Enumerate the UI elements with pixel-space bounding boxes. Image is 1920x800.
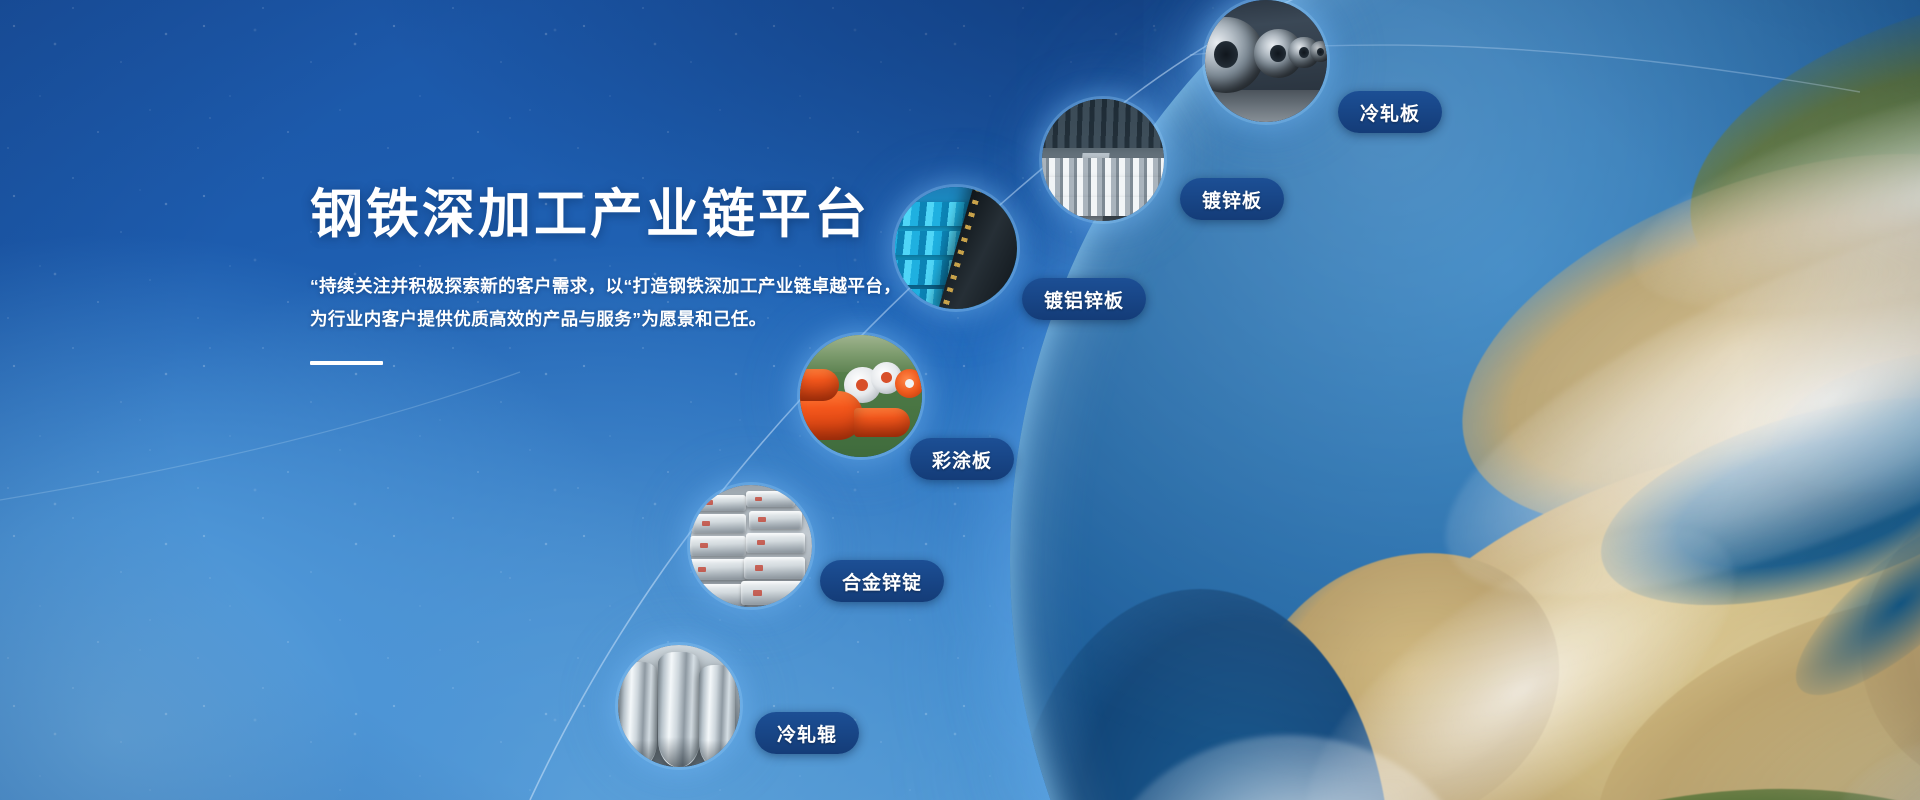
product-label-galvanized-plate[interactable]: 镀锌板 — [1180, 178, 1284, 220]
page-title: 钢铁深加工产业链平台 — [310, 185, 950, 244]
hero-subtitle-line-2: 为行业内客户提供优质高效的产品与服务”为愿景和己任。 — [310, 303, 950, 335]
title-underline — [310, 361, 383, 365]
product-label-text: 冷轧辊 — [777, 720, 837, 747]
product-label-cold-rolling-roll[interactable]: 冷轧辊 — [755, 712, 859, 754]
hero-banner: 冷轧板 镀锌板 镀铝 — [0, 0, 1920, 800]
hero-copy: 钢铁深加工产业链平台 “持续关注并积极探索新的客户需求，以“打造钢铁深加工产业链… — [310, 185, 950, 365]
product-label-alu-zinc-plate[interactable]: 镀铝锌板 — [1022, 278, 1146, 320]
product-label-text: 镀铝锌板 — [1044, 286, 1124, 313]
product-label-text: 合金锌锭 — [842, 568, 922, 595]
product-label-color-coated-plate[interactable]: 彩涂板 — [910, 438, 1014, 480]
zinc-ingots-icon[interactable] — [690, 485, 812, 607]
hero-subtitle: “持续关注并积极探索新的客户需求，以“打造钢铁深加工产业链卓越平台， 为行业内客… — [310, 270, 950, 335]
product-label-text: 镀锌板 — [1202, 186, 1262, 213]
steel-coils-icon[interactable] — [1205, 0, 1327, 122]
vignette-overlay — [0, 0, 1920, 800]
product-label-text: 冷轧板 — [1360, 99, 1420, 126]
warehouse-coils-icon[interactable] — [1042, 99, 1164, 221]
product-label-cold-rolled-plate[interactable]: 冷轧板 — [1338, 91, 1442, 133]
product-label-alloy-zinc-ingot[interactable]: 合金锌锭 — [820, 560, 944, 602]
product-label-text: 彩涂板 — [932, 446, 992, 473]
rolls-icon[interactable] — [618, 645, 740, 767]
hero-subtitle-line-1: “持续关注并积极探索新的客户需求，以“打造钢铁深加工产业链卓越平台， — [310, 270, 950, 302]
